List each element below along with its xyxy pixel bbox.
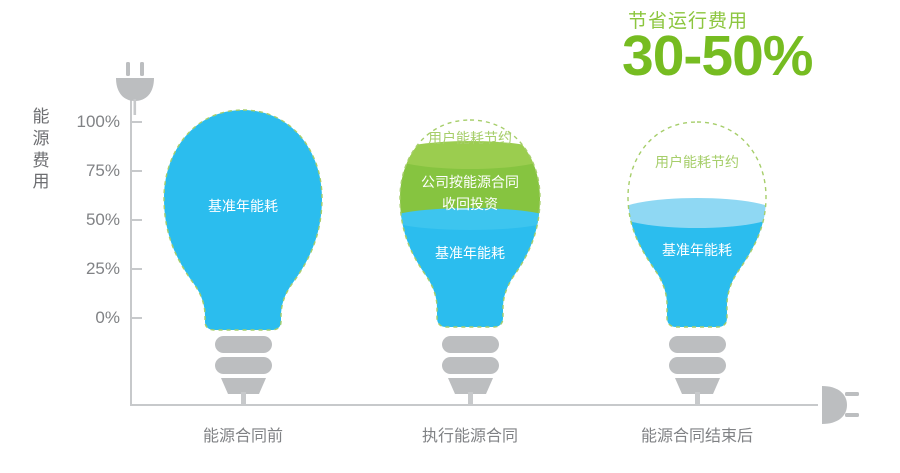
- bulb-3-fill-group: [617, 198, 778, 348]
- bulb-3-base-ring-1: [669, 336, 726, 353]
- bulb-2-base-cap: [448, 378, 493, 394]
- bulb-1-base-cap: [221, 378, 266, 394]
- plug-right-icon: [822, 386, 859, 424]
- bulb-2-cyan-surface: [390, 208, 550, 230]
- bulb-2[interactable]: [390, 120, 550, 406]
- bulb-2-segment-baseline: [390, 218, 550, 348]
- y-tick-label-75: 75%: [62, 161, 120, 181]
- x-category-label-3: 能源合同结束后: [607, 422, 787, 446]
- x-category-label-1: 能源合同前: [153, 422, 333, 446]
- bulb-2-base: [442, 336, 499, 406]
- bulb-1-base: [215, 336, 272, 406]
- x-category-label-2: 执行能源合同: [380, 422, 560, 446]
- bulb-2-green-surface: [390, 141, 550, 169]
- y-tick-label-50: 50%: [62, 210, 120, 230]
- bulb-1-base-stem: [241, 392, 246, 406]
- bulb-3-base: [669, 336, 726, 406]
- bulb-3-base-stem: [695, 392, 700, 406]
- bulb-1[interactable]: [150, 100, 340, 406]
- y-axis-title: 能源费用: [28, 106, 54, 193]
- headline-value: 30-50%: [622, 27, 812, 87]
- bulb-3-cyan-surface: [617, 198, 777, 228]
- bulb-1-fill-group: [150, 100, 340, 340]
- y-tick-label-0: 0%: [62, 308, 120, 328]
- bulb-2-base-ring-1: [442, 336, 499, 353]
- y-axis-ticks: [131, 122, 142, 318]
- bulb-1-base-ring-1: [215, 336, 272, 353]
- bulb-3-base-ring-2: [669, 357, 726, 374]
- bulb-3[interactable]: [617, 122, 778, 406]
- bulb-1-segment-baseline: [150, 100, 340, 340]
- plug-up-icon: [116, 62, 154, 115]
- bulb-1-base-ring-2: [215, 357, 272, 374]
- bulb-3-segment-baseline: [618, 213, 778, 348]
- bulb-3-base-cap: [675, 378, 720, 394]
- bulb-2-base-ring-2: [442, 357, 499, 374]
- y-tick-label-100: 100%: [62, 112, 120, 132]
- infographic-canvas: 节省运行费用 30-50% 能源费用 100% 75% 50% 25% 0% 基…: [0, 0, 900, 473]
- bulb-2-base-stem: [468, 392, 473, 406]
- bulb-2-fill-group: [390, 141, 550, 348]
- y-tick-label-25: 25%: [62, 259, 120, 279]
